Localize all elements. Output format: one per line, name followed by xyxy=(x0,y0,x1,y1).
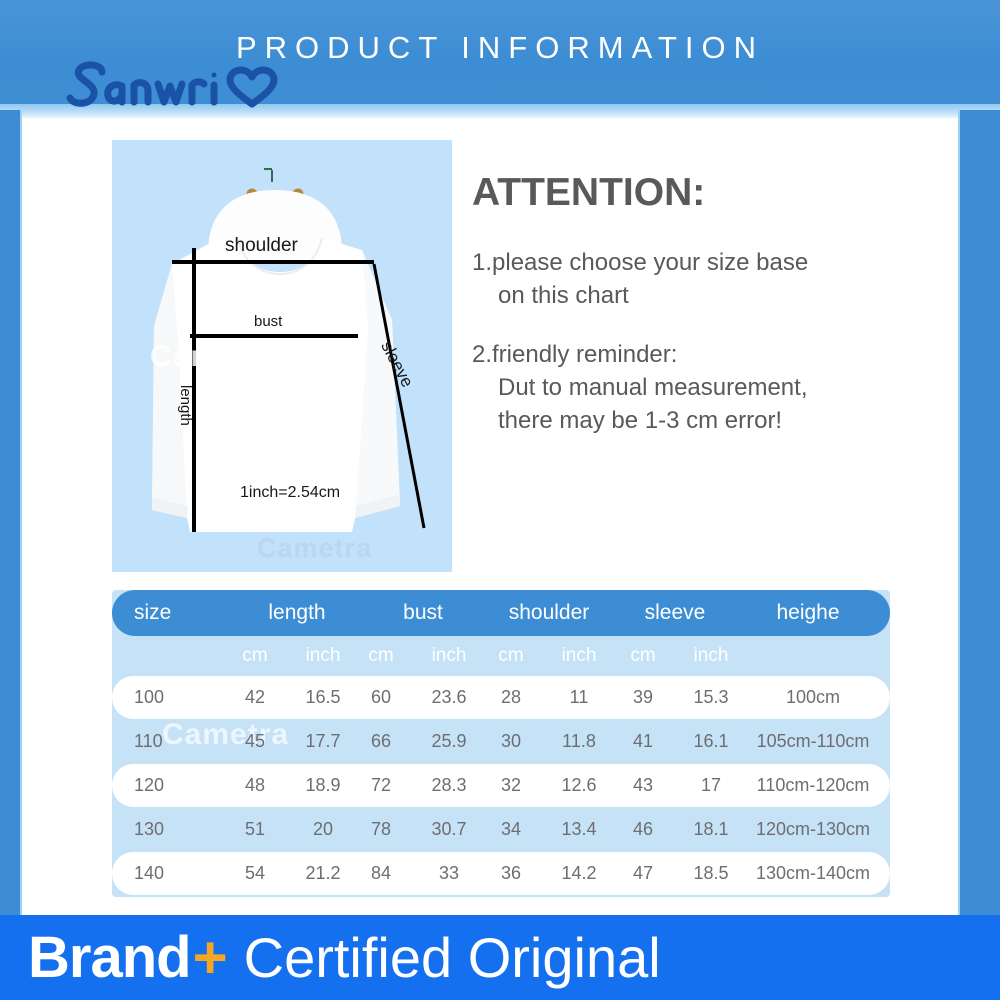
cell-bust-inch: 25.9 xyxy=(412,720,486,763)
cell-sleeve-inch: 18.5 xyxy=(674,852,748,895)
cell-sleeve-inch: 16.1 xyxy=(674,720,748,763)
cell-size: 130 xyxy=(134,808,224,851)
cell-bust-cm: 72 xyxy=(350,764,412,807)
table-body: 100 42 16.5 60 23.6 28 11 39 15.3 100cm … xyxy=(112,676,890,896)
sub-sleeve-cm: cm xyxy=(612,636,674,676)
cell-shoulder-inch: 11.8 xyxy=(542,720,616,763)
cell-sleeve-cm: 41 xyxy=(612,720,674,763)
cell-height: 105cm-110cm xyxy=(748,720,878,763)
cell-height: 110cm-120cm xyxy=(748,764,878,807)
cell-length-inch: 20 xyxy=(286,808,360,851)
cell-length-inch: 17.7 xyxy=(286,720,360,763)
attention-list: 1.please choose your size base on this c… xyxy=(472,246,942,438)
label-length: length xyxy=(177,385,194,426)
cell-length-cm: 45 xyxy=(224,720,286,763)
cell-sleeve-cm: 43 xyxy=(612,764,674,807)
cell-shoulder-inch: 14.2 xyxy=(542,852,616,895)
th-shoulder: shoulder xyxy=(486,590,612,636)
th-length: length xyxy=(234,590,360,636)
label-inch-conversion: 1inch=2.54cm xyxy=(240,484,340,502)
footer-content: Brand + Certified Original xyxy=(0,928,1000,988)
sanrio-logo xyxy=(56,52,296,124)
cell-shoulder-cm: 32 xyxy=(480,764,542,807)
cell-length-cm: 51 xyxy=(224,808,286,851)
sub-shoulder-cm: cm xyxy=(480,636,542,676)
cell-height: 100cm xyxy=(748,676,878,719)
cell-length-inch: 21.2 xyxy=(286,852,360,895)
cell-length-cm: 42 xyxy=(224,676,286,719)
attention-item-1-line-1: 1.please choose your size base xyxy=(472,246,942,279)
sub-length-cm: cm xyxy=(224,636,286,676)
attention-title: ATTENTION: xyxy=(472,173,942,212)
attention-item-1: 1.please choose your size base on this c… xyxy=(472,246,942,312)
cell-length-cm: 48 xyxy=(224,764,286,807)
cell-height: 130cm-140cm xyxy=(748,852,878,895)
cell-size: 120 xyxy=(134,764,224,807)
label-shoulder: shoulder xyxy=(225,235,298,257)
content-area: Cametra shoulder bust length sleeve 1inc… xyxy=(22,118,958,908)
left-border xyxy=(0,110,20,915)
sub-sleeve-inch: inch xyxy=(674,636,748,676)
table-subheader-row: cm inch cm inch cm inch cm inch xyxy=(112,636,890,676)
sub-bust-cm: cm xyxy=(350,636,412,676)
th-heighe: heighe xyxy=(738,590,878,636)
cell-shoulder-inch: 13.4 xyxy=(542,808,616,851)
cell-shoulder-cm: 28 xyxy=(480,676,542,719)
cell-shoulder-cm: 34 xyxy=(480,808,542,851)
cell-sleeve-inch: 15.3 xyxy=(674,676,748,719)
th-sleeve: sleeve xyxy=(612,590,738,636)
cell-sleeve-cm: 47 xyxy=(612,852,674,895)
attention-item-2-line-1: 2.friendly reminder: xyxy=(472,338,942,371)
product-photo-panel: Cametra shoulder bust length sleeve 1inc… xyxy=(112,140,452,572)
cell-size: 100 xyxy=(134,676,224,719)
th-bust: bust xyxy=(360,590,486,636)
cell-bust-inch: 30.7 xyxy=(412,808,486,851)
certified-label: Certified Original xyxy=(244,930,661,986)
footer-banner: Brand + Certified Original xyxy=(0,915,1000,1000)
product-information-page: PRODUCT INFORMATION xyxy=(0,0,1000,1000)
cell-sleeve-cm: 39 xyxy=(612,676,674,719)
cell-shoulder-inch: 12.6 xyxy=(542,764,616,807)
label-bust: bust xyxy=(254,313,282,330)
cell-bust-inch: 28.3 xyxy=(412,764,486,807)
attention-item-2-line-2: Dut to manual measurement, xyxy=(472,371,942,404)
brand-label: Brand xyxy=(28,929,191,987)
th-size: size xyxy=(134,590,224,636)
attention-watermark: Cametra xyxy=(257,533,372,564)
cell-bust-cm: 60 xyxy=(350,676,412,719)
attention-block: ATTENTION: 1.please choose your size bas… xyxy=(472,173,942,464)
cell-size: 110 xyxy=(134,720,224,763)
cell-bust-cm: 84 xyxy=(350,852,412,895)
cell-length-cm: 54 xyxy=(224,852,286,895)
cell-bust-inch: 33 xyxy=(412,852,486,895)
cell-length-inch: 18.9 xyxy=(286,764,360,807)
cell-shoulder-inch: 11 xyxy=(542,676,616,719)
plus-icon: + xyxy=(193,928,228,988)
table-row: 140 54 21.2 84 33 36 14.2 47 18.5 130cm-… xyxy=(112,852,890,895)
cell-sleeve-inch: 17 xyxy=(674,764,748,807)
cell-sleeve-cm: 46 xyxy=(612,808,674,851)
sub-shoulder-inch: inch xyxy=(542,636,616,676)
cell-bust-inch: 23.6 xyxy=(412,676,486,719)
table-row: 110 45 17.7 66 25.9 30 11.8 41 16.1 105c… xyxy=(112,720,890,763)
cell-sleeve-inch: 18.1 xyxy=(674,808,748,851)
table-row: 130 51 20 78 30.7 34 13.4 46 18.1 120cm-… xyxy=(112,808,890,851)
attention-item-2: 2.friendly reminder: Dut to manual measu… xyxy=(472,338,942,437)
right-border xyxy=(960,110,1000,915)
table-row: 120 48 18.9 72 28.3 32 12.6 43 17 110cm-… xyxy=(112,764,890,807)
cell-height: 120cm-130cm xyxy=(748,808,878,851)
cell-bust-cm: 66 xyxy=(350,720,412,763)
sub-bust-inch: inch xyxy=(412,636,486,676)
cell-shoulder-cm: 36 xyxy=(480,852,542,895)
size-chart-table: Cametra size length bust shoulder sleeve… xyxy=(112,590,890,897)
attention-item-2-line-3: there may be 1-3 cm error! xyxy=(472,404,942,437)
cell-shoulder-cm: 30 xyxy=(480,720,542,763)
attention-item-1-line-2: on this chart xyxy=(472,279,942,312)
cell-bust-cm: 78 xyxy=(350,808,412,851)
table-header-row: size length bust shoulder sleeve heighe xyxy=(112,590,890,636)
sub-length-inch: inch xyxy=(286,636,360,676)
cell-length-inch: 16.5 xyxy=(286,676,360,719)
cell-size: 140 xyxy=(134,852,224,895)
heart-icon xyxy=(230,70,274,104)
table-row: 100 42 16.5 60 23.6 28 11 39 15.3 100cm xyxy=(112,676,890,719)
right-hairline xyxy=(958,110,960,915)
